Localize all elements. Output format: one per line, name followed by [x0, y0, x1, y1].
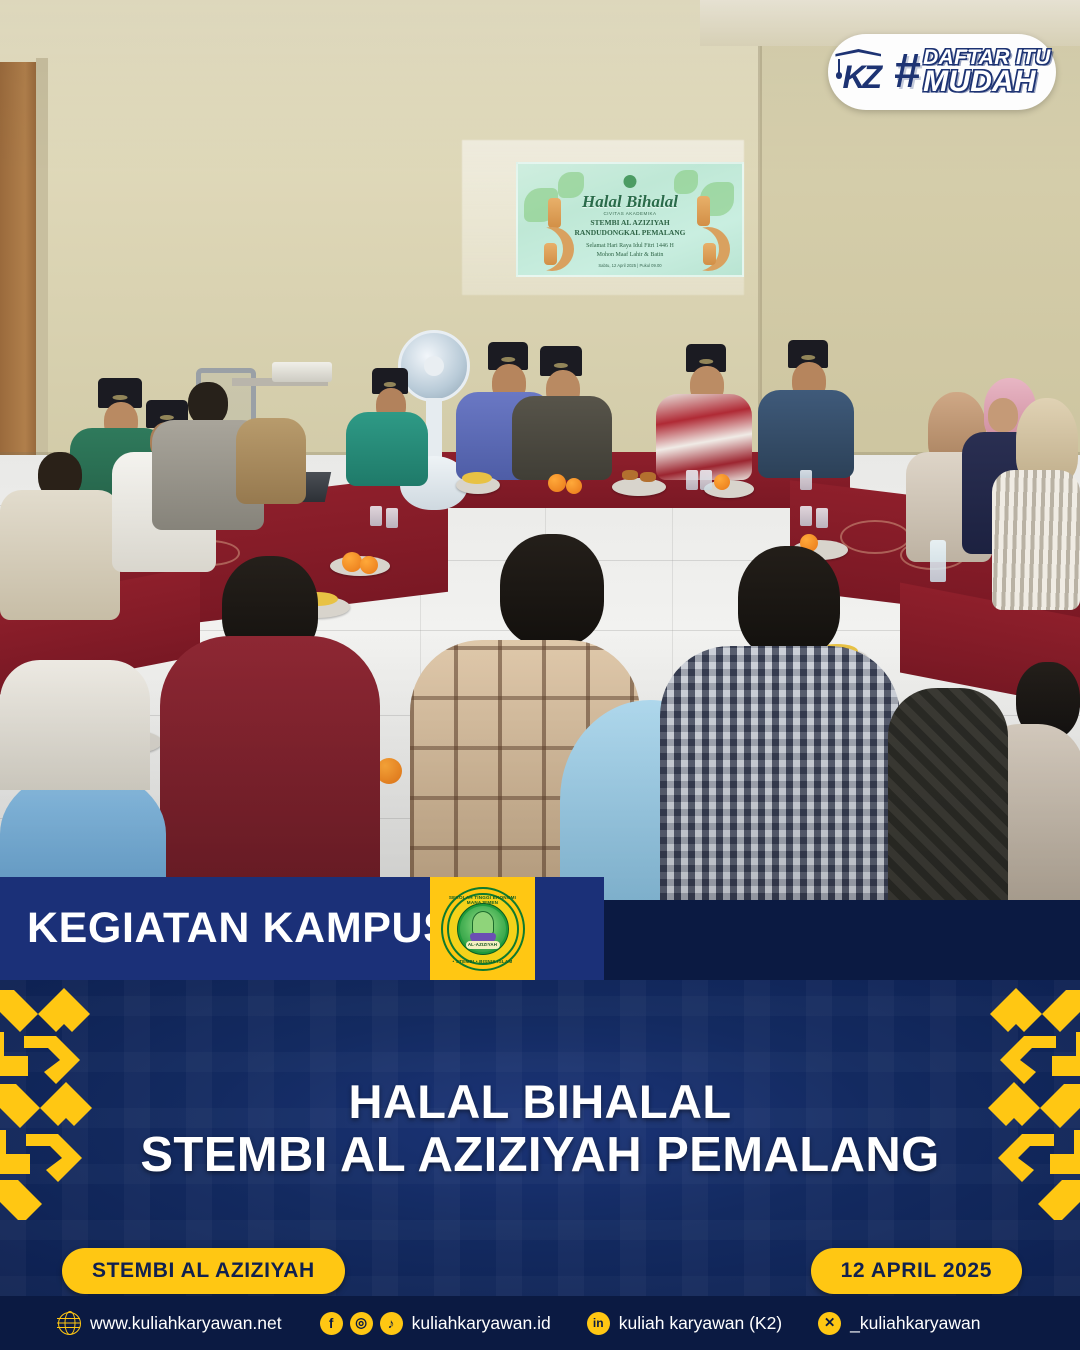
date-badge: 12 APRIL 2025: [811, 1248, 1022, 1294]
event-photo: Halal Bihalal CIVITAS AKADEMIKA STEMBI A…: [0, 0, 1080, 900]
x-twitter-icon[interactable]: ✕: [818, 1312, 841, 1335]
footer-social[interactable]: f ◎ ♪ kuliahkaryawan.id: [320, 1312, 551, 1335]
stembi-seal-icon: SEKOLAH TINGGI EKONOMI MANAJEMEN • STEMB…: [441, 887, 525, 971]
footer-bar: www.kuliahkaryawan.net f ◎ ♪ kuliahkarya…: [0, 1296, 1080, 1350]
globe-icon: [58, 1312, 81, 1335]
hash-icon: #: [893, 53, 918, 91]
graduation-cap-icon: KZ: [833, 45, 883, 99]
footer-linkedin[interactable]: in kuliah karyawan (K2): [587, 1312, 782, 1335]
facebook-icon[interactable]: f: [320, 1312, 343, 1335]
tiktok-icon[interactable]: ♪: [380, 1312, 403, 1335]
organization-badge: STEMBI AL AZIZIYAH: [62, 1248, 345, 1294]
footer-website[interactable]: www.kuliahkaryawan.net: [58, 1312, 282, 1335]
kz-monogram: KZ: [842, 61, 879, 93]
poster-root: Halal Bihalal CIVITAS AKADEMIKA STEMBI A…: [0, 0, 1080, 1350]
mosque-dome-icon: [472, 911, 494, 935]
instagram-icon[interactable]: ◎: [350, 1312, 373, 1335]
hashtag-block: # DAFTAR ITU MUDAH: [893, 48, 1050, 97]
website-label: www.kuliahkaryawan.net: [90, 1313, 282, 1334]
brand-badge[interactable]: KZ # DAFTAR ITU MUDAH: [828, 34, 1056, 110]
seal-text-bottom: • STEMBI • BISNIS ISLAM: [443, 959, 523, 964]
x-label: _kuliahkaryawan: [850, 1313, 980, 1334]
seal-ribbon: AL-AZIZIYAH: [466, 941, 500, 949]
title-line-1: HALAL BIHALAL: [0, 1075, 1080, 1128]
linkedin-label: kuliah karyawan (K2): [619, 1313, 782, 1334]
seal-container: SEKOLAH TINGGI EKONOMI MANAJEMEN • STEMB…: [430, 877, 535, 980]
social-handle-label: kuliahkaryawan.id: [412, 1313, 551, 1334]
badge-line-2: MUDAH: [923, 67, 1050, 96]
footer-x[interactable]: ✕ _kuliahkaryawan: [818, 1312, 980, 1335]
linkedin-icon[interactable]: in: [587, 1312, 610, 1335]
category-label: KEGIATAN KAMPUS: [27, 904, 452, 953]
page-title: HALAL BIHALAL STEMBI AL AZIZIYAH PEMALAN…: [0, 1075, 1080, 1183]
photo-vignette: [0, 0, 1080, 900]
title-line-2: STEMBI AL AZIZIYAH PEMALANG: [0, 1128, 1080, 1183]
